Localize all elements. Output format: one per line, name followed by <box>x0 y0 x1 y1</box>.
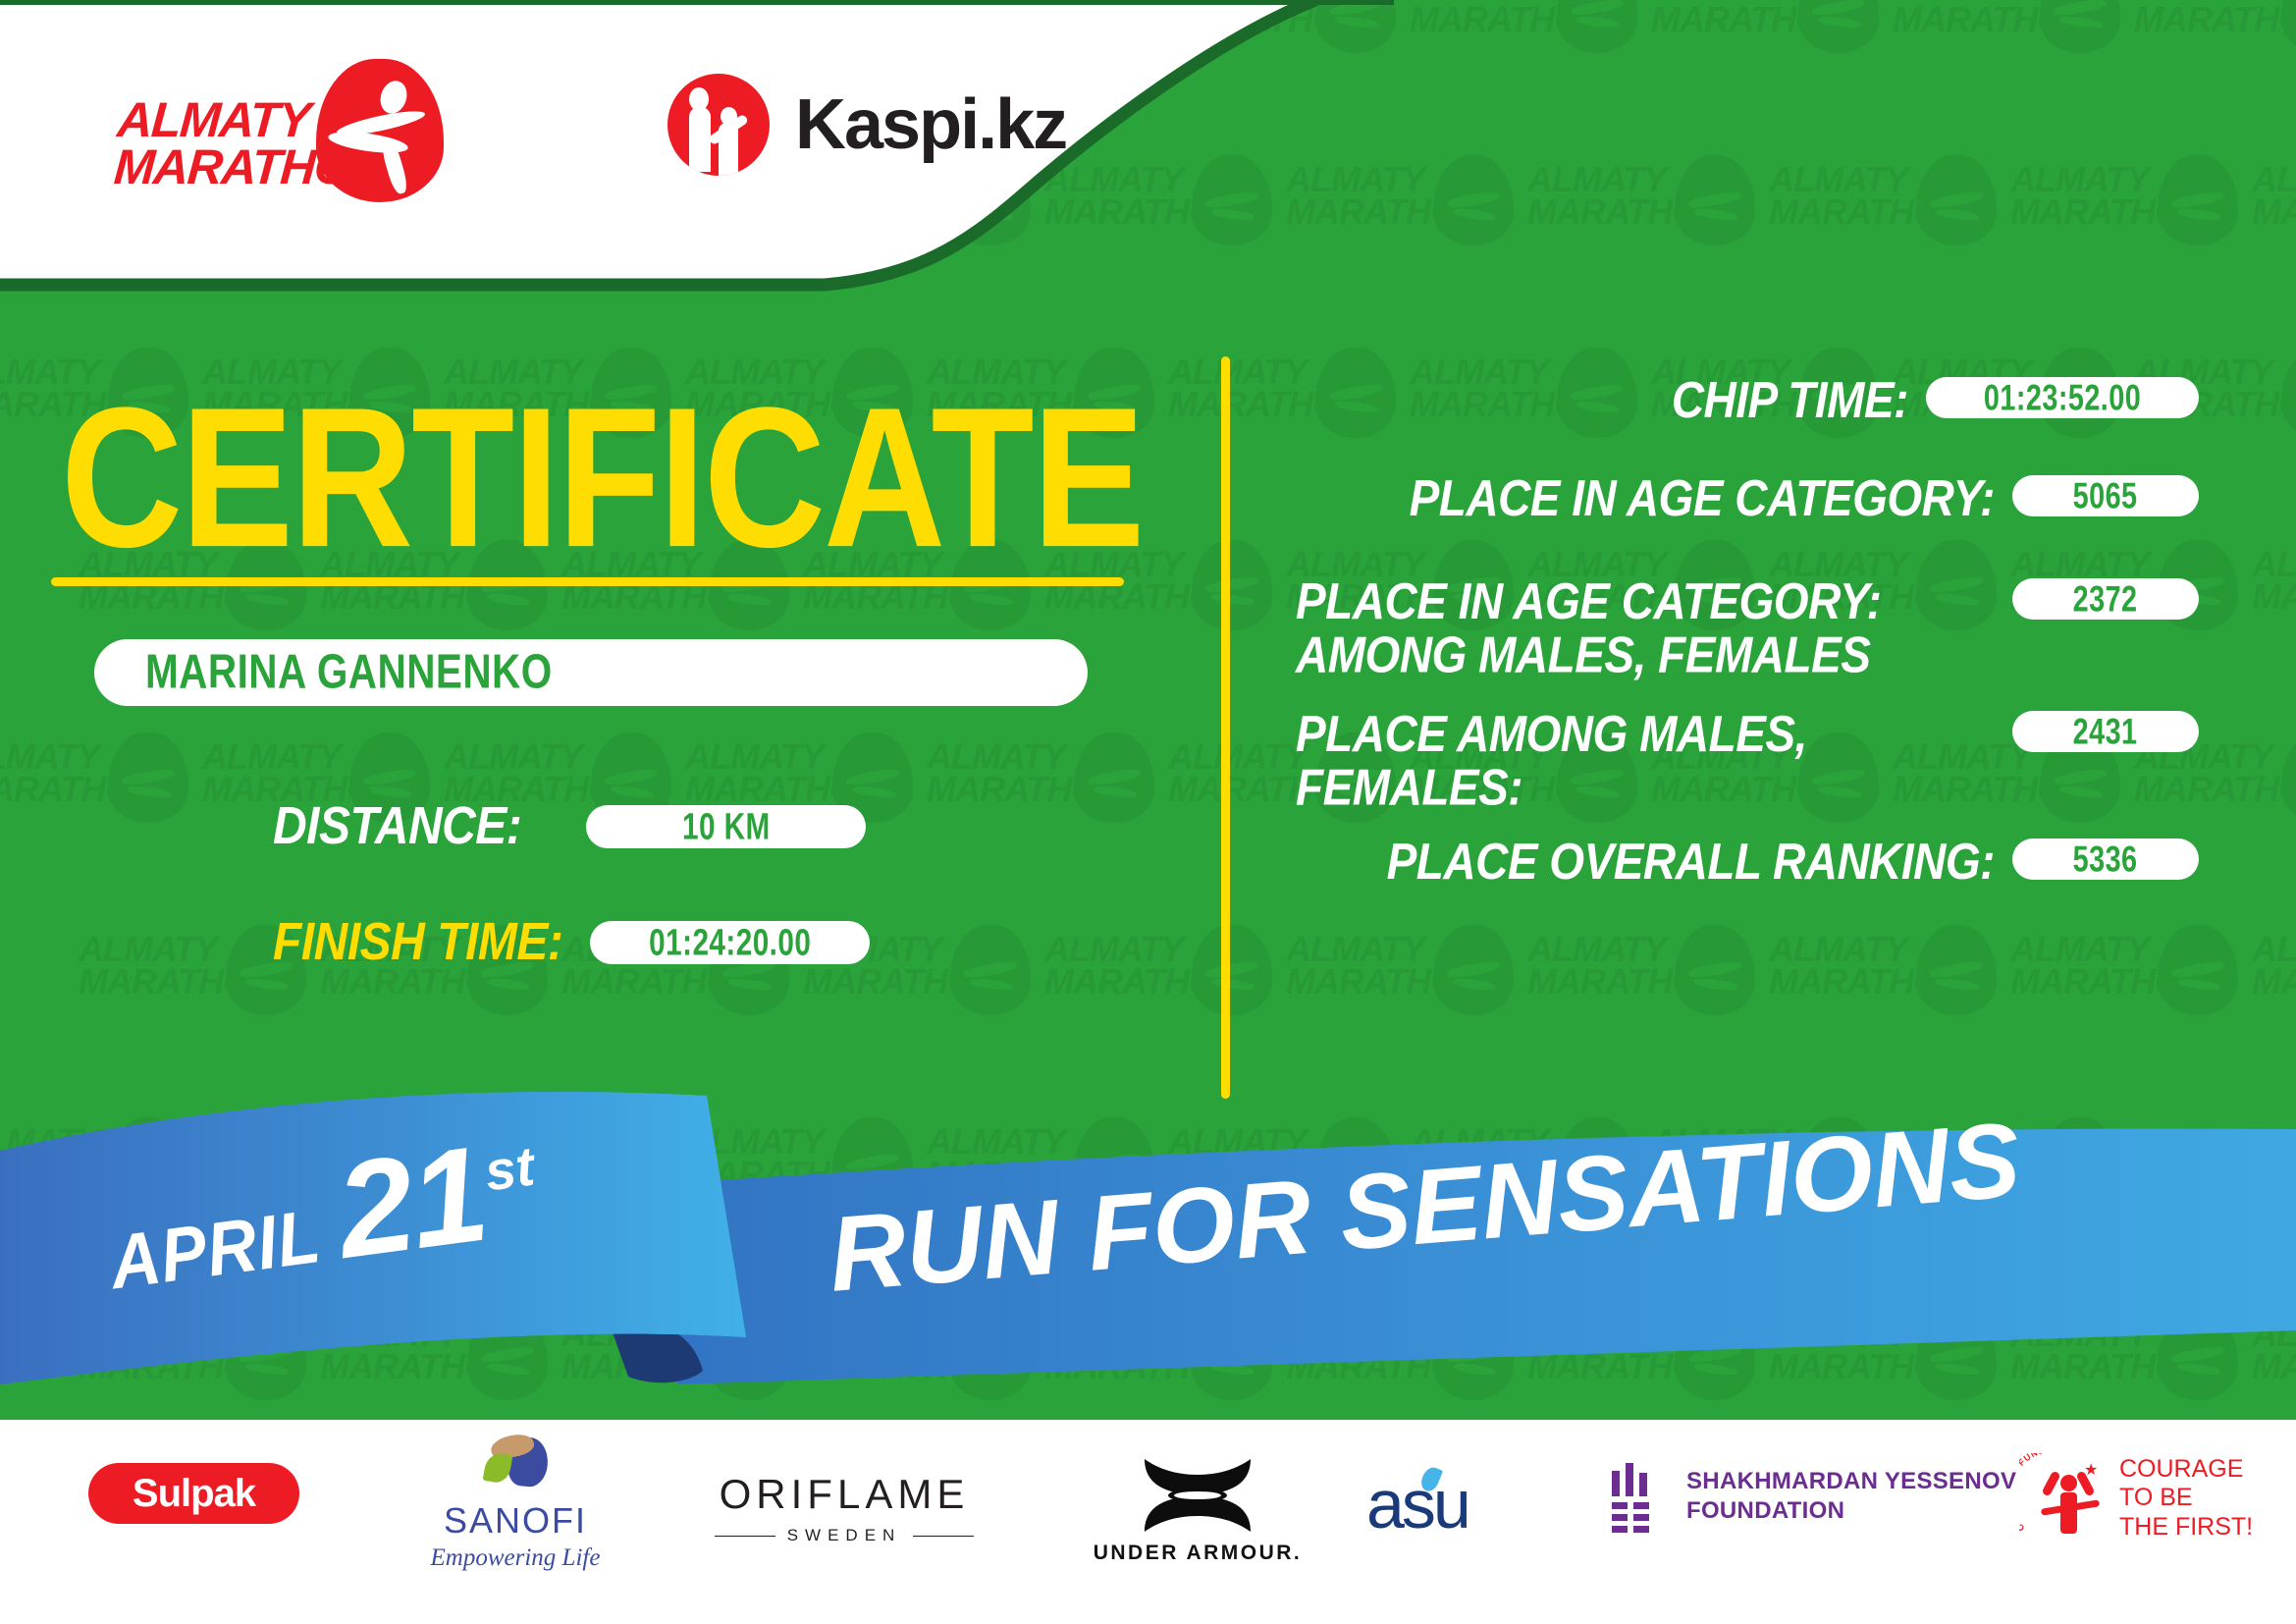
result-value-pill: 2372 <box>2012 578 2199 620</box>
sponsor-sanofi[interactable]: SANOFI Empowering Life <box>402 1435 628 1572</box>
finish-time-value: 01:24:20.00 <box>649 921 811 964</box>
yessenov-label: SHAKHMARDAN YESSENOV FOUNDATION <box>1686 1467 2016 1526</box>
certificate-page: ALMATYMARATHONALMATYMARATHONALMATYMARATH… <box>0 0 2296 1624</box>
distance-label: DISTANCE: <box>273 796 521 857</box>
result-label: PLACE IN AGE CATEGORY: <box>1296 471 2012 525</box>
sanofi-tagline: Empowering Life <box>431 1544 601 1572</box>
result-value: 01:23:52.00 <box>1984 377 2141 419</box>
result-label-line1: PLACE IN AGE CATEGORY: <box>1296 572 1881 629</box>
ribbon-day-suffix: st <box>481 1134 538 1204</box>
finish-time-label: FINISH TIME: <box>273 912 562 973</box>
header-logo-row: ALMATY MARATHON Kaspi.kz <box>0 0 1276 285</box>
sponsor-under-armour[interactable]: UNDER ARMOUR. <box>1080 1455 1315 1565</box>
result-label-line2: AMONG MALES, FEMALES <box>1296 626 1870 683</box>
sulpak-logo: Sulpak <box>88 1463 299 1524</box>
sponsor-oriflame[interactable]: ORIFLAME SWEDEN <box>702 1471 987 1545</box>
distance-value-pill: 10 KM <box>586 805 866 848</box>
sanofi-label: SANOFI <box>431 1500 601 1542</box>
distance-value: 10 KM <box>682 805 771 848</box>
watermark-tile: ALMATYMARATHON <box>2252 163 2296 310</box>
result-label-line2: FEMALES: <box>1296 759 1522 816</box>
almaty-marathon-logo[interactable]: ALMATY MARATHON <box>116 59 440 187</box>
sponsor-bar: Sulpak SANOFI Empowering Life ORIFLAME S… <box>0 1420 2296 1624</box>
watermark-tile: ALMATYMARATHON <box>2134 0 2296 118</box>
under-armour-icon <box>1139 1455 1256 1536</box>
finish-time-row: FINISH TIME: 01:24:20.00 <box>273 915 870 969</box>
finish-time-value-pill: 01:24:20.00 <box>590 921 870 964</box>
result-row: PLACE IN AGE CATEGORY:AMONG MALES, FEMAL… <box>1296 574 2199 671</box>
result-value: 5065 <box>2073 475 2138 517</box>
kaspi-people-icon <box>667 74 770 176</box>
result-value-pill: 2431 <box>2012 711 2199 752</box>
oriflame-sub-row: SWEDEN <box>715 1526 975 1545</box>
result-label: PLACE AMONG MALES,FEMALES: <box>1296 707 2012 815</box>
courage-fund-icon: CORPORATE FUND ★ <box>2025 1453 2109 1543</box>
courage-fund-label: COURAGE TO BE THE FIRST! <box>2119 1455 2253 1543</box>
result-label-line1: PLACE AMONG MALES, <box>1296 705 1807 762</box>
distance-row: DISTANCE: 10 KM <box>273 799 866 853</box>
watermark-tile: ALMATYMARATHON <box>2252 548 2296 695</box>
result-row: CHIP TIME:01:23:52.00 <box>1296 373 2199 421</box>
courage-line1: COURAGE <box>2119 1455 2243 1483</box>
result-label: PLACE IN AGE CATEGORY:AMONG MALES, FEMAL… <box>1296 574 2012 682</box>
sponsor-courage-fund[interactable]: CORPORATE FUND ★ COURAGE TO BE THE FIRST… <box>2025 1453 2253 1543</box>
athlete-name-value: MARINA GANNENKO <box>145 645 553 700</box>
oriflame-label: ORIFLAME <box>715 1471 975 1518</box>
runner-drop-icon <box>316 59 444 202</box>
page-title: CERTIFICATE <box>61 378 1143 577</box>
sponsor-sulpak[interactable]: Sulpak <box>88 1463 299 1524</box>
yessenov-line2: FOUNDATION <box>1686 1497 1844 1524</box>
vertical-divider <box>1221 356 1230 1099</box>
yessenov-line1: SHAKHMARDAN YESSENOV <box>1686 1468 2016 1494</box>
result-row: PLACE IN AGE CATEGORY:5065 <box>1296 471 2199 519</box>
yessenov-icon <box>1610 1463 1665 1530</box>
result-value-pill: 01:23:52.00 <box>1926 377 2199 418</box>
sponsor-yessenov-foundation[interactable]: SHAKHMARDAN YESSENOV FOUNDATION <box>1610 1463 2016 1530</box>
kaspi-wordmark: Kaspi.kz <box>795 84 1066 165</box>
sulpak-label: Sulpak <box>133 1472 255 1516</box>
asu-label: asu <box>1366 1465 1468 1543</box>
under-armour-label: UNDER ARMOUR. <box>1094 1542 1303 1565</box>
oriflame-rule-right <box>913 1536 974 1537</box>
watermark-tile: ALMATYMARATHON <box>2252 933 2296 1080</box>
title-underline <box>51 577 1124 586</box>
athlete-name-field: MARINA GANNENKO <box>94 639 1088 706</box>
result-value-pill: 5065 <box>2012 475 2199 516</box>
kaspi-logo[interactable]: Kaspi.kz <box>667 71 1066 179</box>
result-row: PLACE AMONG MALES,FEMALES:2431 <box>1296 707 2199 803</box>
courage-line3: THE FIRST! <box>2119 1513 2253 1541</box>
result-value-pill: 5336 <box>2012 839 2199 880</box>
ribbon-day: 21 <box>331 1135 492 1272</box>
sanofi-icon <box>479 1435 552 1494</box>
result-label: CHIP TIME: <box>1296 373 1926 427</box>
result-value: 5336 <box>2073 839 2138 881</box>
oriflame-rule-left <box>715 1536 775 1537</box>
courage-line2: TO BE <box>2119 1484 2193 1511</box>
result-label: PLACE OVERALL RANKING: <box>1296 835 2012 889</box>
result-value: 2431 <box>2073 711 2138 753</box>
result-value: 2372 <box>2073 578 2138 621</box>
oriflame-sweden-label: SWEDEN <box>787 1526 902 1545</box>
result-row: PLACE OVERALL RANKING:5336 <box>1296 835 2199 883</box>
sponsor-asu[interactable]: asu <box>1366 1465 1468 1543</box>
